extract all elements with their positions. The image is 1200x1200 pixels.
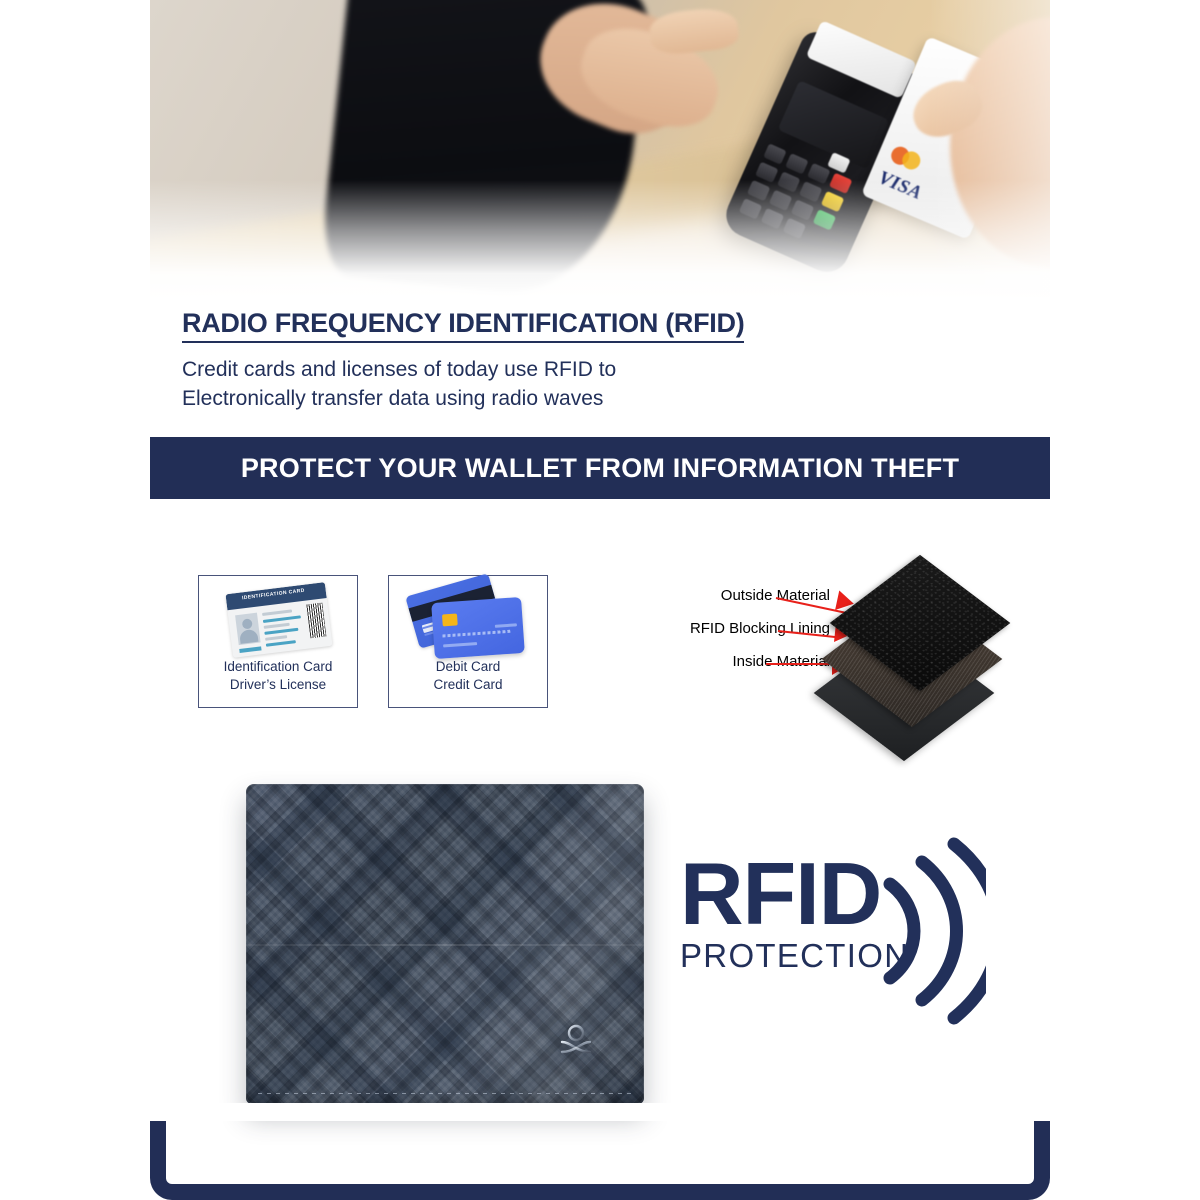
label-line-1: Identification Card: [199, 658, 357, 676]
id-card-header-text: IDENTIFICATION CARD: [242, 588, 305, 602]
bank-cards-artwork: [389, 576, 547, 658]
protected-item-id-card: IDENTIFICATION CARD Identificat: [198, 575, 358, 708]
card-accent-line: [495, 623, 517, 628]
id-card-icon: IDENTIFICATION CARD: [225, 582, 332, 658]
subtitle-line-2: Electronically transfer data using radio…: [182, 385, 1022, 414]
card-number-line: [442, 630, 510, 638]
protect-banner: PROTECT YOUR WALLET FROM INFORMATION THE…: [150, 437, 1050, 499]
layer-label-outside: Outside Material: [721, 587, 830, 604]
rfid-protection-logo: RFID PROTECTION: [680, 854, 980, 1024]
label-line-1: Debit Card: [389, 658, 547, 676]
protect-banner-text: PROTECT YOUR WALLET FROM INFORMATION THE…: [241, 453, 959, 484]
protected-item-label: Identification Card Driver’s License: [199, 658, 357, 694]
hero-bottom-fade: [150, 180, 1050, 300]
id-card-footer-band: [239, 646, 261, 653]
decorative-bottom-frame: [150, 1104, 1050, 1200]
product-showcase: RFID PROTECTION: [150, 760, 1050, 1140]
brand-knot-logo-icon: [554, 1020, 598, 1064]
label-line-2: Credit Card: [389, 676, 547, 694]
headline-block: RADIO FREQUENCY IDENTIFICATION (RFID) Cr…: [182, 308, 1022, 414]
id-card-artwork: IDENTIFICATION CARD: [199, 576, 357, 658]
credit-card-icon: [431, 597, 525, 659]
id-card-barcode: [306, 603, 326, 639]
material-layers-diagram: Outside Material RFID Blocking Lining In…: [580, 575, 1050, 715]
content-column: VISA RADIO FREQUENCY IDENTIFICATION (RFI…: [150, 0, 1050, 1200]
cardholder-name-line: [443, 642, 477, 647]
layer-label-inside: Inside Material: [732, 653, 830, 670]
leader-line-inside: [766, 663, 836, 665]
wallet-product-image: [246, 784, 644, 1104]
signal-waves-icon: [876, 836, 986, 1031]
hero-photo: VISA: [150, 0, 1050, 300]
info-row: IDENTIFICATION CARD Identificat: [150, 575, 1050, 715]
emv-chip-icon: [442, 613, 458, 626]
subtitle-line-1: Credit cards and licenses of today use R…: [182, 356, 1022, 385]
protected-item-bank-cards: Debit Card Credit Card: [388, 575, 548, 708]
poster-page: VISA RADIO FREQUENCY IDENTIFICATION (RFI…: [0, 0, 1200, 1200]
page-title: RADIO FREQUENCY IDENTIFICATION (RFID): [182, 308, 744, 343]
hero-right-fade: [930, 0, 1050, 300]
label-line-2: Driver’s License: [199, 676, 357, 694]
page-subtitle: Credit cards and licenses of today use R…: [182, 356, 1022, 414]
id-card-photo-placeholder: [235, 613, 260, 645]
protected-item-label: Debit Card Credit Card: [389, 658, 547, 694]
